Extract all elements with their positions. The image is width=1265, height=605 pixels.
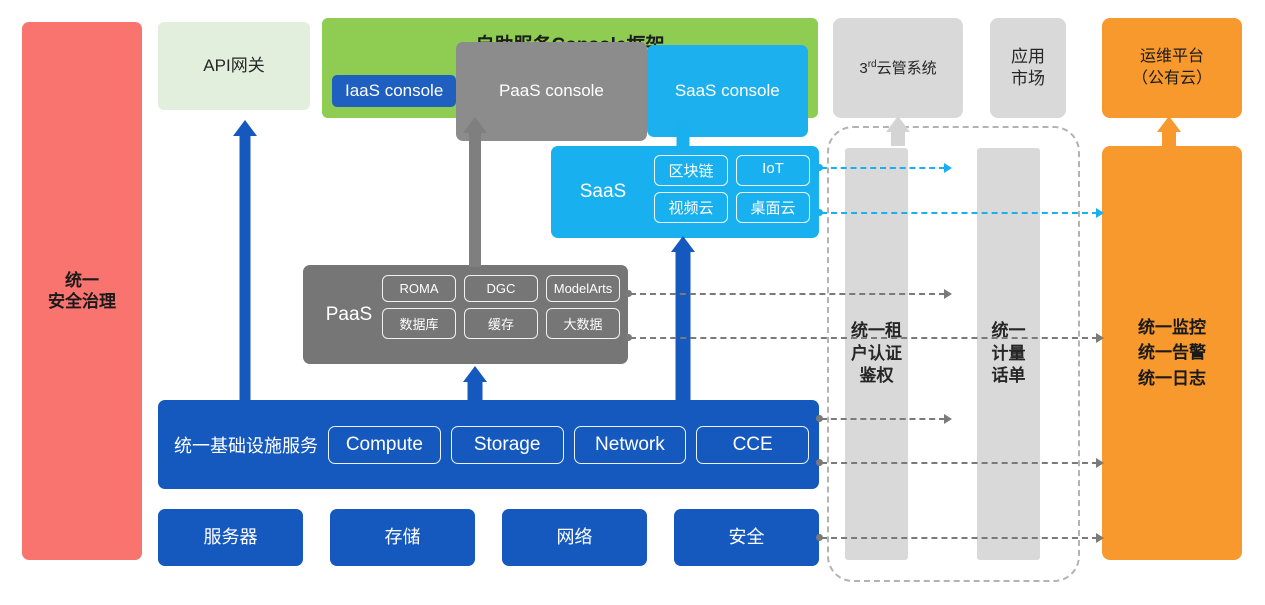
api-gateway-box: API网关 — [158, 22, 310, 110]
console-framework-box: 自助服务Console框架 IaaS console PaaS console … — [322, 18, 818, 118]
arrow-to-ops-platform — [1156, 116, 1182, 147]
connector-paas-to-ops-platform — [630, 337, 1098, 339]
connector-saas-to-ops-platform — [821, 212, 1098, 214]
connector-arrowhead-infra-auth — [944, 414, 952, 424]
connector-arrowhead-paas-auth — [944, 289, 952, 299]
connector-arrowhead-paas-ops — [1096, 333, 1104, 343]
connector-arrowhead-infra-ops — [1096, 458, 1104, 468]
connector-infra-to-ops-platform — [821, 462, 1098, 464]
infra-service-network[interactable]: Network — [574, 426, 687, 464]
ops-platform-main-box: 统一监控 统一告警 统一日志 — [1102, 146, 1242, 560]
third-party-cloud-mgmt-box: 3rd云管系统 — [833, 18, 963, 118]
saas-service-video-cloud[interactable]: 视频云 — [654, 192, 728, 223]
saas-layer-box: SaaS 区块链 IoT 视频云 桌面云 — [551, 146, 819, 238]
hardware-security-box[interactable]: 安全 — [674, 509, 819, 566]
connector-paas-to-tenant-auth — [630, 293, 945, 295]
paas-service-roma[interactable]: ROMA — [382, 275, 456, 302]
hardware-server-box[interactable]: 服务器 — [158, 509, 303, 566]
connector-hardware-to-ops-platform — [821, 537, 1098, 539]
hardware-security-label: 安全 — [729, 526, 765, 549]
arrow-infra-to-api-gateway — [232, 120, 258, 401]
hardware-server-label: 服务器 — [204, 526, 258, 549]
infra-service-storage[interactable]: Storage — [451, 426, 564, 464]
ops-platform-top-label: 运维平台 （公有云） — [1132, 46, 1212, 89]
paas-service-cache[interactable]: 缓存 — [464, 308, 538, 339]
third-party-cloud-mgmt-label: 3rd云管系统 — [859, 58, 936, 79]
saas-layer-label: SaaS — [563, 146, 643, 238]
unified-tenant-auth-label: 统一租 户认证 鉴权 — [851, 320, 902, 389]
paas-service-dgc[interactable]: DGC — [464, 275, 538, 302]
hardware-storage-box[interactable]: 存储 — [330, 509, 475, 566]
arrow-saas-to-console — [670, 117, 696, 149]
superscript-rd: rd — [868, 59, 877, 70]
api-gateway-label: API网关 — [203, 55, 264, 76]
connector-arrowhead-hardware-ops — [1096, 533, 1104, 543]
app-market-box: 应用 市场 — [990, 18, 1066, 118]
infra-service-cce[interactable]: CCE — [696, 426, 809, 464]
paas-service-modelarts[interactable]: ModelArts — [546, 275, 620, 302]
ops-platform-public-cloud-box: 运维平台 （公有云） — [1102, 18, 1242, 118]
paas-layer-box: PaaS ROMA DGC ModelArts 数据库 缓存 大数据 — [303, 265, 628, 364]
security-governance-label: 统一 安全治理 — [48, 270, 116, 313]
saas-service-desktop-cloud[interactable]: 桌面云 — [736, 192, 810, 223]
saas-service-iot[interactable]: IoT — [736, 155, 810, 186]
unified-infrastructure-box: 统一基础设施服务 Compute Storage Network CCE — [158, 400, 819, 489]
connector-infra-to-tenant-auth — [821, 418, 945, 420]
paas-service-database[interactable]: 数据库 — [382, 308, 456, 339]
paas-layer-label: PaaS — [311, 265, 387, 364]
infra-service-compute[interactable]: Compute — [328, 426, 441, 464]
paas-service-grid: ROMA DGC ModelArts 数据库 缓存 大数据 — [382, 275, 620, 339]
unified-infrastructure-label: 统一基础设施服务 — [174, 432, 318, 458]
hardware-storage-label: 存储 — [385, 526, 421, 549]
arrow-to-third-party-cloud — [885, 116, 911, 146]
hardware-network-label: 网络 — [557, 526, 593, 549]
console-chip-row: IaaS console PaaS console SaaS console — [332, 75, 808, 107]
connector-arrowhead-saas-auth — [944, 163, 952, 173]
hardware-network-box[interactable]: 网络 — [502, 509, 647, 566]
unified-tenant-auth-column: 统一租 户认证 鉴权 — [845, 148, 908, 560]
ops-platform-main-label: 统一监控 统一告警 统一日志 — [1138, 315, 1206, 392]
arrow-infra-to-paas — [462, 366, 488, 402]
unified-metering-billing-label: 统一 计量 话单 — [992, 320, 1026, 389]
security-governance-pillar: 统一 安全治理 — [22, 22, 142, 560]
arrow-infra-to-saas — [670, 236, 696, 402]
paas-service-bigdata[interactable]: 大数据 — [546, 308, 620, 339]
saas-service-grid: 区块链 IoT 视频云 桌面云 — [654, 155, 810, 223]
arrow-paas-to-console — [462, 117, 488, 267]
connector-saas-to-tenant-auth — [821, 167, 945, 169]
architecture-diagram: 统一 安全治理 API网关 自助服务Console框架 IaaS console… — [0, 0, 1265, 605]
unified-metering-billing-column: 统一 计量 话单 — [977, 148, 1040, 560]
connector-arrowhead-saas-ops — [1096, 208, 1104, 218]
iaas-console-chip[interactable]: IaaS console — [332, 75, 456, 107]
app-market-label: 应用 市场 — [1011, 46, 1045, 90]
saas-service-blockchain[interactable]: 区块链 — [654, 155, 728, 186]
